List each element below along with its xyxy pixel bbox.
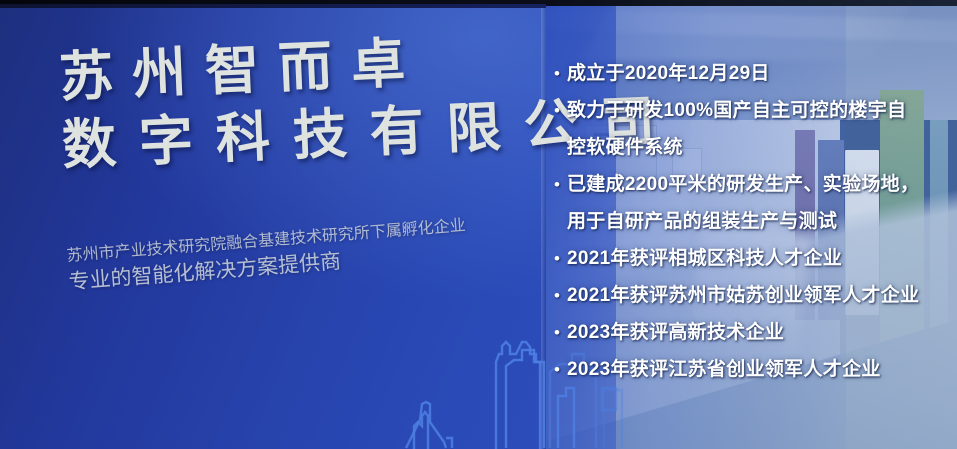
bullet-dot-icon: • (547, 57, 567, 91)
skyline-arch-icon (392, 380, 512, 449)
list-item: •2023年获评江苏省创业领军人才企业 (547, 353, 947, 390)
list-item-label: 已建成2200平米的研发生产、实验场地， (567, 168, 919, 202)
bullet-dot-icon: • (547, 94, 567, 128)
list-item-label: 2021年获评相城区科技人才企业 (567, 242, 842, 276)
list-item: •控软硬件系统 (547, 131, 947, 168)
list-item: •已建成2200平米的研发生产、实验场地， (547, 168, 947, 205)
bullet-dot-icon: • (547, 279, 567, 313)
bullet-dot-icon: • (547, 242, 567, 276)
list-item: •用于自研产品的组装生产与测试 (547, 205, 947, 242)
list-item-label: 控软硬件系统 (567, 131, 683, 165)
list-item-label: 用于自研产品的组装生产与测试 (567, 205, 837, 239)
bullet-dot-icon: • (547, 168, 567, 202)
list-item-label: 致力于研发100%国产自主可控的楼宇自 (567, 94, 906, 128)
skyline-small-buildings-icon (0, 352, 140, 449)
list-item-label: 2021年获评苏州市姑苏创业领军人才企业 (567, 279, 919, 313)
list-item: •2021年获评相城区科技人才企业 (547, 242, 947, 279)
slide-canvas: 苏 州 智 而 卓 数 字 科 技 有 限 公 司 苏州市产业技术研究院融合基建… (0, 0, 957, 449)
board-top-shadow (0, 4, 546, 8)
list-item: •2021年获评苏州市姑苏创业领军人才企业 (547, 279, 947, 316)
bullet-dot-icon: • (547, 316, 567, 350)
list-item: •致力于研发100%国产自主可控的楼宇自 (547, 94, 947, 131)
list-item-label: 成立于2020年12月29日 (567, 57, 770, 91)
list-item: •成立于2020年12月29日 (547, 57, 947, 94)
bullet-dot-icon: • (547, 353, 567, 387)
list-item-label: 2023年获评江苏省创业领军人才企业 (567, 353, 881, 387)
company-highlights-list: •成立于2020年12月29日•致力于研发100%国产自主可控的楼宇自•控软硬件… (547, 57, 947, 390)
company-name-block: 苏 州 智 而 卓 数 字 科 技 有 限 公 司 (58, 26, 533, 178)
list-item-label: 2023年获评高新技术企业 (567, 316, 784, 350)
list-item: •2023年获评高新技术企业 (547, 316, 947, 353)
